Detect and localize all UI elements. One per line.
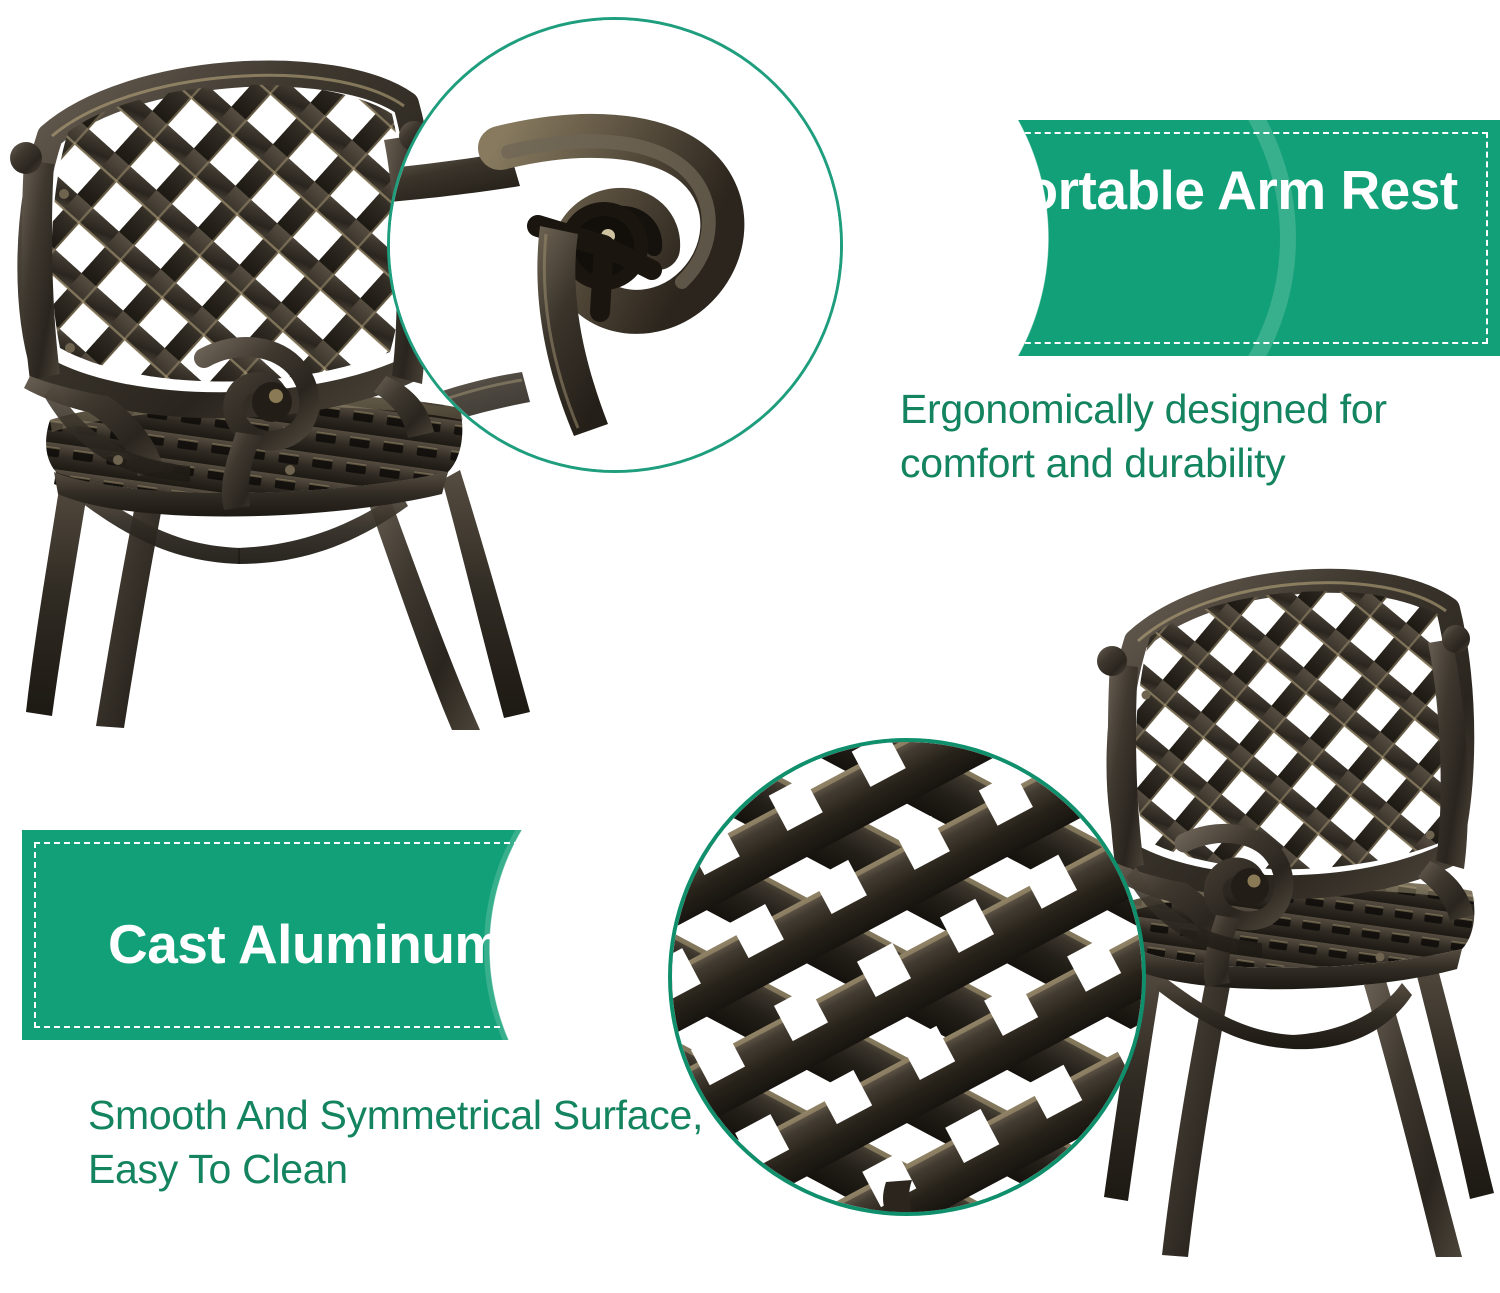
feature-title-arm-rest: Comfortable Arm Rest xyxy=(886,160,1466,222)
feature-caption-cast-aluminum: Smooth And Symmetrical Surface, Easy To … xyxy=(88,1088,708,1196)
feature-caption-arm-rest: Ergonomically designed for comfort and d… xyxy=(900,382,1486,490)
feature-title-cast-aluminum: Cast Aluminum xyxy=(108,914,668,976)
product-infographic: Comfortable Arm Rest Ergonomically desig… xyxy=(0,0,1500,1293)
feature-banner-arm-rest: Comfortable Arm Rest xyxy=(824,120,1500,356)
callout-lattice-detail xyxy=(672,742,1142,1212)
feature-banner-cast-aluminum: Cast Aluminum xyxy=(22,830,712,1040)
callout-armrest-detail xyxy=(390,20,840,470)
product-image-chair-bottom-right xyxy=(1080,545,1500,1285)
